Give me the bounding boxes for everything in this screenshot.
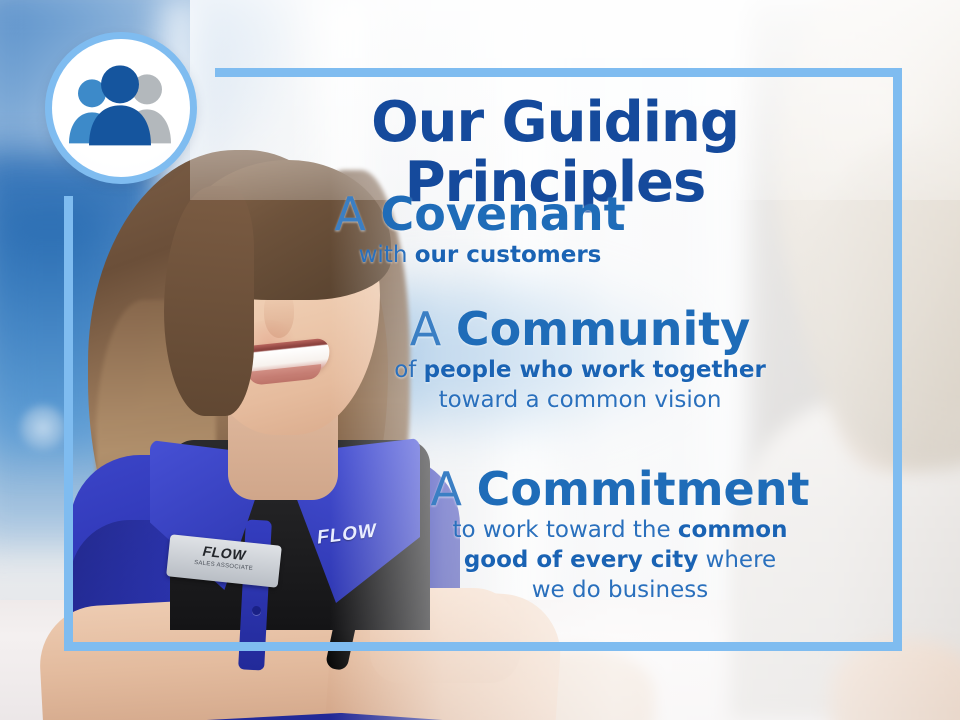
emphasis-text: people who work together: [424, 357, 766, 383]
principle-commitment: A Commitment to work toward the commongo…: [340, 463, 900, 605]
plain-text: toward a common vision: [439, 387, 722, 413]
plain-text: where: [698, 547, 776, 573]
plain-text: of: [394, 357, 423, 383]
principle-covenant-heading: A Covenant: [200, 188, 760, 240]
principle-covenant: A Covenant with our customers: [200, 188, 760, 270]
principle-body-line: with our customers: [200, 240, 760, 270]
principle-covenant-body: with our customers: [200, 240, 760, 270]
emphasis-text: good of every city: [464, 547, 698, 573]
principle-commitment-heading: A Commitment: [340, 463, 900, 515]
plain-text: we do business: [532, 577, 709, 603]
principle-body-line: good of every city where: [340, 545, 900, 575]
principle-community-heading: A Community: [300, 303, 860, 355]
principle-article: A: [334, 187, 380, 241]
principle-body-line: of people who work together: [300, 355, 860, 385]
banner-stage: FLOW FLOW SALES ASSOCIATE: [0, 0, 960, 720]
principle-keyword: Commitment: [477, 462, 810, 516]
emphasis-text: our customers: [415, 242, 602, 268]
principle-article: A: [431, 462, 477, 516]
principle-community: A Community of people who work togethert…: [300, 303, 860, 415]
text-layer: Our Guiding Principles A Covenant with o…: [0, 0, 960, 720]
principle-body-line: we do business: [340, 575, 900, 605]
plain-text: with: [359, 242, 415, 268]
principle-commitment-body: to work toward the commongood of every c…: [340, 515, 900, 605]
principle-keyword: Covenant: [381, 187, 626, 241]
emphasis-text: common: [678, 517, 788, 543]
principle-body-line: toward a common vision: [300, 385, 860, 415]
plain-text: to work toward the: [453, 517, 678, 543]
principle-article: A: [410, 302, 456, 356]
principle-keyword: Community: [456, 302, 750, 356]
principle-body-line: to work toward the common: [340, 515, 900, 545]
principle-community-body: of people who work togethertoward a comm…: [300, 355, 860, 415]
